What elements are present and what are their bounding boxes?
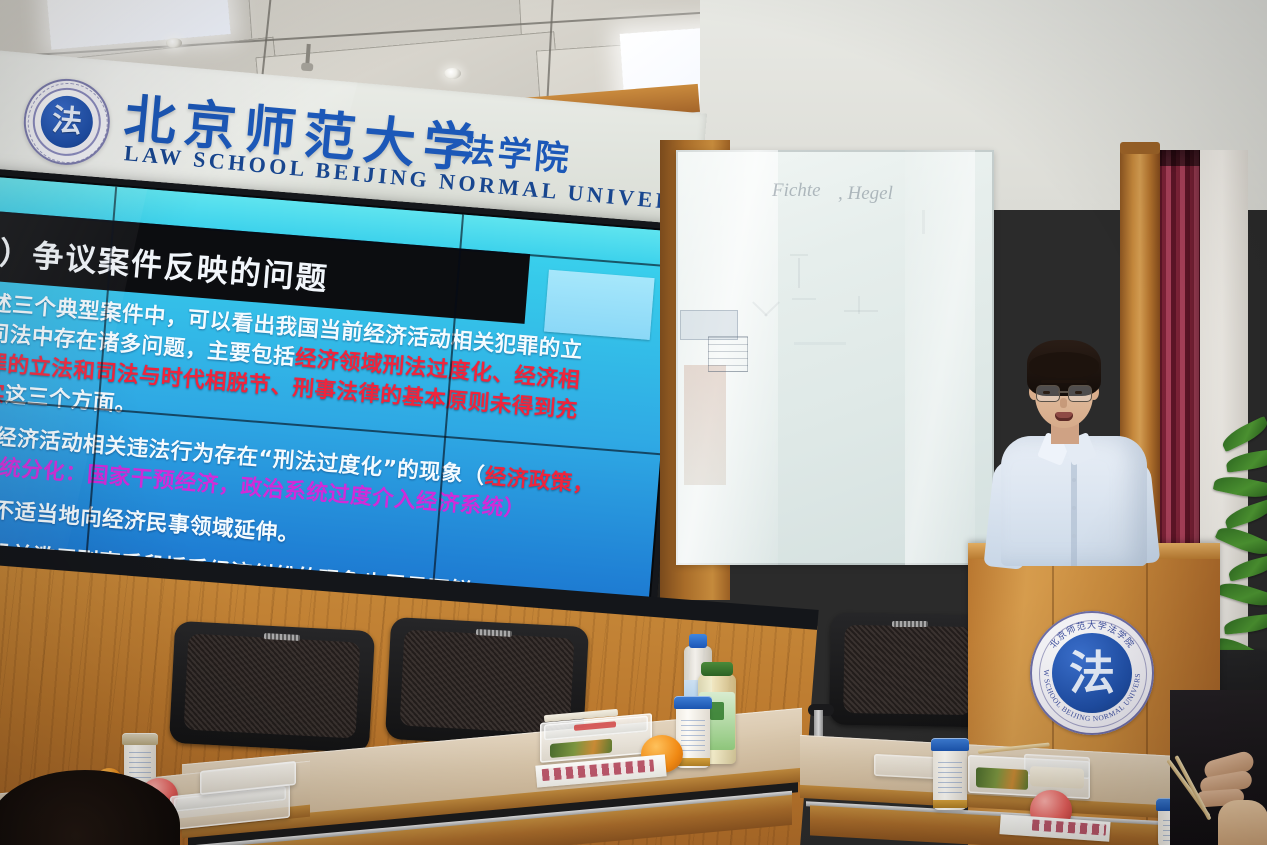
cup-lid [931, 738, 969, 751]
cup-label [681, 720, 705, 752]
whiteboard-note: Fichte [772, 180, 821, 202]
whiteboard[interactable]: Fichte , Hegel [676, 150, 994, 565]
whiteboard-sketch-mark [922, 210, 925, 234]
lectern-emblem: 北京师范大学法学院 LAW SCHOOL BEIJING NORMAL UNIV… [1030, 611, 1154, 735]
whiteboard-sketch-mark [794, 342, 846, 345]
presenter-mouth [1055, 412, 1073, 421]
plant-leaf [1217, 578, 1267, 611]
plant-leaf [1227, 554, 1267, 581]
presenter-eye [1075, 391, 1082, 394]
whiteboard-sketch-mark [844, 310, 878, 312]
lunch-box-rice [1030, 766, 1084, 789]
whiteboard-glare [905, 150, 975, 565]
plant-leaf [1219, 416, 1267, 452]
cup-lid [674, 696, 712, 709]
whiteboard-note: , Hegel [838, 183, 893, 205]
eyeglasses-bridge [1058, 391, 1068, 393]
whiteboard-sketch-mark [858, 296, 860, 314]
lunch-box-contents [550, 739, 612, 758]
presenter-hair-fringe [1029, 352, 1099, 378]
recessed-downlight [444, 68, 461, 79]
bottle-logo [710, 702, 724, 720]
napkin-print [1032, 819, 1107, 835]
plant-leaf [1223, 499, 1267, 530]
whiteboard-sketch-grid [708, 336, 748, 372]
lunch-box-contents [976, 767, 1028, 790]
plant-leaf [1215, 521, 1267, 560]
whiteboard-sketch-mark [798, 258, 800, 288]
plant-leaf [1213, 472, 1267, 502]
lunch-box[interactable] [968, 755, 1090, 799]
whiteboard-sketch-mark [792, 298, 816, 300]
plant-leaf [1225, 448, 1267, 472]
chair-mesh [843, 625, 973, 715]
presenter-eye [1043, 391, 1050, 394]
shirt-button [1072, 534, 1076, 538]
yogurt-cup[interactable] [933, 748, 967, 810]
lecture-hall-photo: 法 北京师范大学 法学院 LAW SCHOOL BEIJING NORMAL U… [0, 0, 1267, 845]
emblem-glyph: 法 [1069, 650, 1115, 696]
shirt-button [1072, 506, 1076, 510]
cup-label [129, 752, 151, 780]
presenter [983, 340, 1163, 560]
shirt-button [1072, 478, 1076, 482]
smoke-detector [305, 44, 311, 66]
seal-glyph: 法 [51, 106, 84, 139]
emblem-center: 法 [1052, 633, 1132, 713]
slide-corner-card [544, 270, 655, 340]
plant-leaf [1223, 613, 1267, 634]
column-cap [1120, 142, 1160, 154]
cup-lid [122, 733, 158, 745]
napkin-print [542, 759, 655, 781]
presenter-nose [1060, 398, 1067, 408]
whiteboard-sketch-mark [790, 254, 808, 256]
presenter-eyebrow [1041, 380, 1087, 383]
chair-label [892, 621, 928, 627]
bottle-cap [701, 662, 733, 676]
cup-label [938, 762, 962, 794]
bottle-cap [689, 634, 707, 648]
whiteboard-reflection-patch [684, 365, 726, 485]
attendee-arm [1218, 800, 1267, 845]
cup-band [933, 800, 967, 808]
recessed-downlight [166, 38, 182, 48]
